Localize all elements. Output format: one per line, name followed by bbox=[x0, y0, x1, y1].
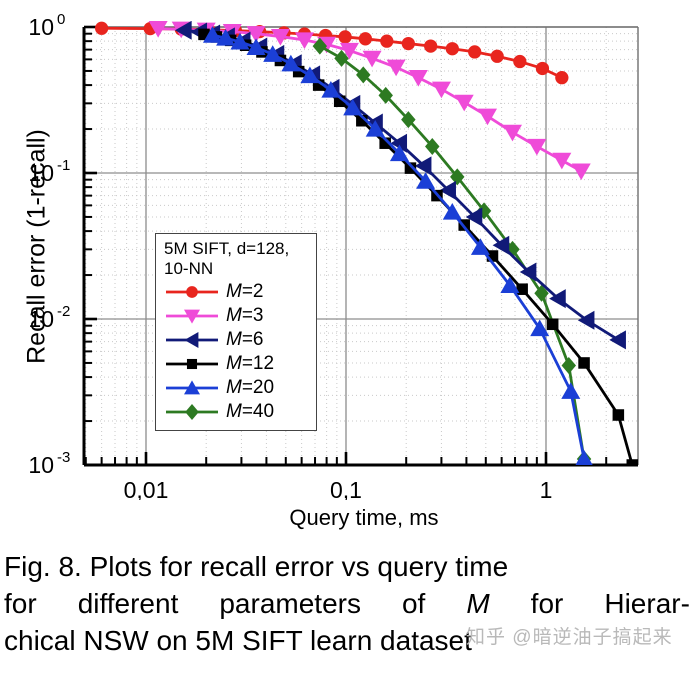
legend-marker-triangle-left-icon bbox=[164, 330, 220, 350]
caption-line-1: Fig. 8. Plots for recall error vs query … bbox=[4, 548, 690, 585]
legend-title: 5M SIFT, d=128, 10-NN bbox=[164, 239, 310, 279]
legend-item-M-6: M=6 bbox=[164, 328, 310, 352]
legend-label: M=40 bbox=[226, 401, 274, 423]
plot-area: 0,010,1110010-110-210-3 bbox=[0, 0, 694, 500]
caption-word: of bbox=[402, 585, 425, 622]
caption-word: Hierar- bbox=[604, 585, 690, 622]
caption-word: parameters bbox=[219, 585, 361, 622]
chart-legend: 5M SIFT, d=128, 10-NN M=2M=3M=6M=12M=20M… bbox=[155, 233, 317, 431]
y-tick-label: 10 bbox=[28, 160, 54, 186]
chart-figure: Recall error (1-recall) 0,010,1110010-11… bbox=[0, 0, 694, 548]
series-M-3 bbox=[149, 21, 591, 180]
legend-marker-circle-icon bbox=[164, 282, 220, 302]
x-tick-label: 0,1 bbox=[330, 477, 362, 500]
y-tick-exponent: -2 bbox=[57, 303, 70, 320]
legend-label: M=3 bbox=[226, 305, 264, 327]
caption-word: for bbox=[531, 585, 564, 622]
chart-svg: 0,010,1110010-110-210-3 bbox=[0, 0, 694, 500]
caption-word: for bbox=[4, 585, 37, 622]
legend-marker-triangle-up-icon bbox=[164, 378, 220, 398]
figure-root: Recall error (1-recall) 0,010,1110010-11… bbox=[0, 0, 694, 684]
y-tick-exponent: -3 bbox=[57, 449, 70, 466]
legend-label: M=12 bbox=[226, 353, 274, 375]
caption-line-2: for different parameters of M for Hierar… bbox=[4, 585, 690, 622]
x-tick-label: 0,01 bbox=[124, 477, 169, 500]
legend-marker-square-icon bbox=[164, 354, 220, 374]
legend-marker-diamond-icon bbox=[164, 402, 220, 422]
legend-item-M-2: M=2 bbox=[164, 280, 310, 304]
x-tick-label: 1 bbox=[540, 477, 553, 500]
x-axis-label: Query time, ms bbox=[84, 505, 644, 531]
legend-item-M-12: M=12 bbox=[164, 352, 310, 376]
legend-rows: M=2M=3M=6M=12M=20M=40 bbox=[164, 280, 310, 424]
legend-marker-triangle-down-icon bbox=[164, 306, 220, 326]
legend-label: M=2 bbox=[226, 281, 264, 303]
caption-word-italic: M bbox=[466, 585, 489, 622]
y-tick-exponent: 0 bbox=[57, 11, 65, 28]
legend-label: M=20 bbox=[226, 377, 274, 399]
legend-item-M-3: M=3 bbox=[164, 304, 310, 328]
y-tick-exponent: -1 bbox=[57, 157, 70, 174]
y-tick-label: 10 bbox=[28, 452, 54, 478]
caption-word: different bbox=[78, 585, 179, 622]
legend-label: M=6 bbox=[226, 329, 264, 351]
y-tick-label: 10 bbox=[28, 14, 54, 40]
legend-item-M-20: M=20 bbox=[164, 376, 310, 400]
legend-item-M-40: M=40 bbox=[164, 400, 310, 424]
y-tick-label: 10 bbox=[28, 306, 54, 332]
watermark-text: 知乎 @暗逆油子搞起来 bbox=[466, 622, 673, 649]
